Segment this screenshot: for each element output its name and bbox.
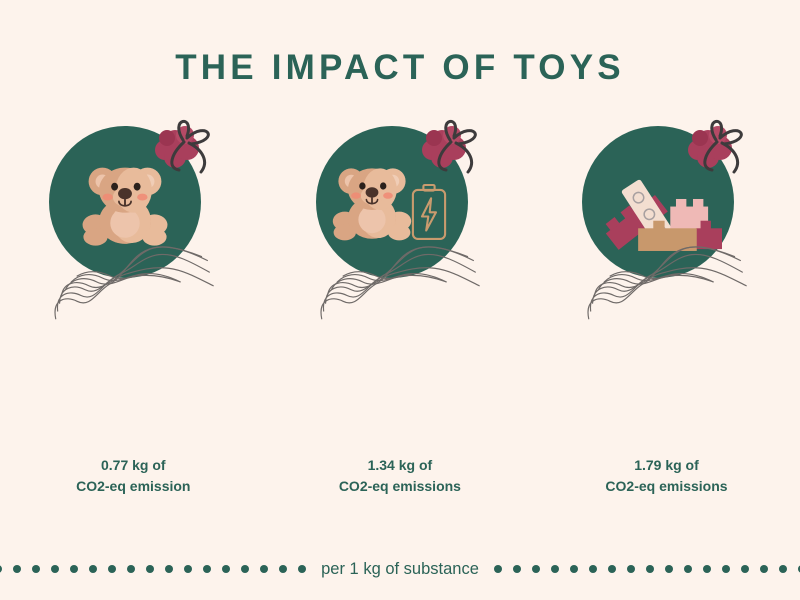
footer-dot [665, 565, 673, 573]
footer-dot [146, 565, 154, 573]
footer-dot [570, 565, 578, 573]
footer-dot [184, 565, 192, 573]
smoke-col [533, 222, 800, 332]
footer-dot [241, 565, 249, 573]
emission-value: 1.34 kg of [267, 455, 534, 476]
footer-dot [165, 565, 173, 573]
footer-dot [494, 565, 502, 573]
footer-dot [32, 565, 40, 573]
footer-dot [51, 565, 59, 573]
footer-text: per 1 kg of substance [315, 560, 485, 579]
emission-unit: CO2-eq emissions [533, 476, 800, 497]
footer-dot [89, 565, 97, 573]
dot-row-right [494, 565, 800, 573]
footer-dot [722, 565, 730, 573]
footer-dot [684, 565, 692, 573]
emission-smoke-row [0, 222, 800, 332]
footer-dot [203, 565, 211, 573]
emission-caption: 0.77 kg of CO2-eq emission [0, 455, 267, 497]
footer-banner: per 1 kg of substance [0, 556, 800, 582]
emission-value: 0.77 kg of [0, 455, 267, 476]
dot-row-left [0, 565, 306, 573]
footer-dot [260, 565, 268, 573]
footer-dot [589, 565, 597, 573]
footer-dot [741, 565, 749, 573]
footer-dot [127, 565, 135, 573]
footer-dot [108, 565, 116, 573]
footer-dot [646, 565, 654, 573]
footer-dot [551, 565, 559, 573]
emission-caption: 1.34 kg of CO2-eq emissions [267, 455, 534, 497]
footer-dot [760, 565, 768, 573]
footer-dot [703, 565, 711, 573]
emission-caption-row: 0.77 kg of CO2-eq emission 1.34 kg of CO… [0, 455, 800, 497]
smoke-col [267, 222, 534, 332]
emission-caption: 1.79 kg of CO2-eq emissions [533, 455, 800, 497]
footer-dot [298, 565, 306, 573]
emission-unit: CO2-eq emission [0, 476, 267, 497]
footer-dot [222, 565, 230, 573]
footer-dot [70, 565, 78, 573]
footer-dot [13, 565, 21, 573]
footer-dot [532, 565, 540, 573]
smoke-squiggle-icon [579, 222, 754, 332]
footer-dot [513, 565, 521, 573]
infographic-poster: THE IMPACT OF TOYS [0, 0, 800, 600]
emission-unit: CO2-eq emissions [267, 476, 534, 497]
page-title: THE IMPACT OF TOYS [0, 48, 800, 88]
footer-dot [608, 565, 616, 573]
footer-dot [779, 565, 787, 573]
smoke-squiggle-icon [46, 222, 221, 332]
footer-dot [279, 565, 287, 573]
smoke-col [0, 222, 267, 332]
footer-dot [0, 565, 2, 573]
emission-value: 1.79 kg of [533, 455, 800, 476]
smoke-squiggle-icon [312, 222, 487, 332]
footer-dot [627, 565, 635, 573]
